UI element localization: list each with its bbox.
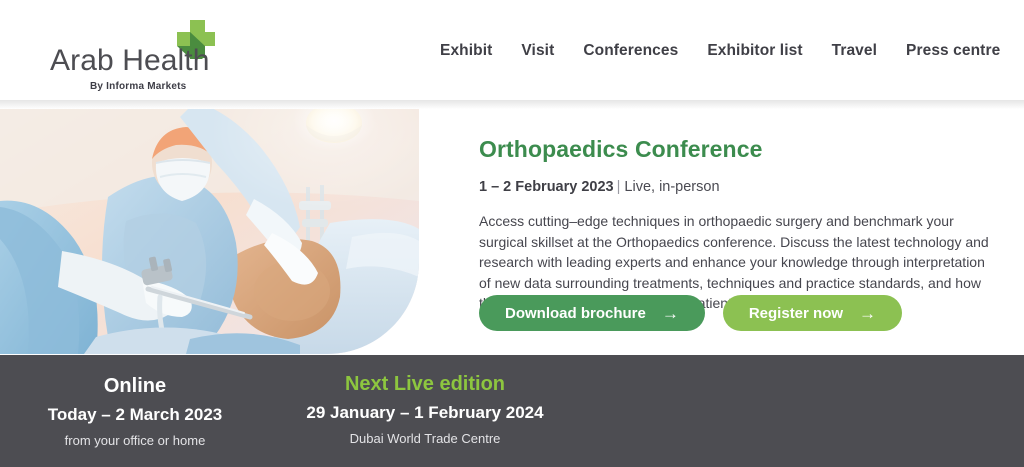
- logo-wordmark: Arab Health: [50, 44, 210, 78]
- download-brochure-label: Download brochure: [505, 305, 646, 322]
- page-title: Orthopaedics Conference: [479, 136, 999, 163]
- online-heading: Online: [20, 375, 250, 398]
- nav-item-travel[interactable]: Travel: [832, 42, 877, 60]
- site-header: Arab Health By Informa Markets Exhibit V…: [0, 0, 1024, 100]
- event-meta: 1 – 2 February 2023|Live, in-person: [479, 179, 999, 195]
- footer-online-column: Online Today – 2 March 2023 from your of…: [20, 375, 250, 448]
- online-dates: Today – 2 March 2023: [20, 405, 250, 425]
- arrow-right-icon: →: [662, 305, 679, 322]
- event-format: Live, in-person: [624, 179, 719, 195]
- site-footer: Online Today – 2 March 2023 from your of…: [0, 355, 1024, 467]
- nav-item-exhibitor-list[interactable]: Exhibitor list: [707, 42, 802, 60]
- logo-tagline: By Informa Markets: [90, 81, 186, 92]
- register-now-button[interactable]: Register now →: [723, 295, 902, 331]
- download-brochure-button[interactable]: Download brochure →: [479, 295, 705, 331]
- surgery-photo-illustration: [0, 101, 419, 354]
- nav-item-conferences[interactable]: Conferences: [583, 42, 678, 60]
- nav-item-exhibit[interactable]: Exhibit: [440, 42, 492, 60]
- cta-row: Download brochure → Register now →: [479, 295, 902, 331]
- hero-content: Orthopaedics Conference 1 – 2 February 2…: [479, 136, 999, 314]
- nav-item-press-centre[interactable]: Press centre: [906, 42, 1000, 60]
- nav-item-visit[interactable]: Visit: [521, 42, 554, 60]
- page-root: Arab Health By Informa Markets Exhibit V…: [0, 0, 1024, 467]
- hero-image: [0, 101, 419, 354]
- arrow-right-icon: →: [859, 305, 876, 322]
- meta-separator: |: [617, 179, 621, 195]
- header-divider: [0, 100, 1024, 109]
- live-edition-dates: 29 January – 1 February 2024: [295, 403, 555, 423]
- site-logo[interactable]: Arab Health By Informa Markets: [50, 18, 265, 88]
- register-now-label: Register now: [749, 305, 843, 322]
- live-edition-heading: Next Live edition: [295, 373, 555, 396]
- online-location: from your office or home: [20, 433, 250, 448]
- event-date: 1 – 2 February 2023: [479, 179, 614, 195]
- main-navigation: Exhibit Visit Conferences Exhibitor list…: [440, 38, 960, 64]
- footer-live-column: Next Live edition 29 January – 1 Februar…: [295, 373, 555, 446]
- live-edition-location: Dubai World Trade Centre: [295, 431, 555, 446]
